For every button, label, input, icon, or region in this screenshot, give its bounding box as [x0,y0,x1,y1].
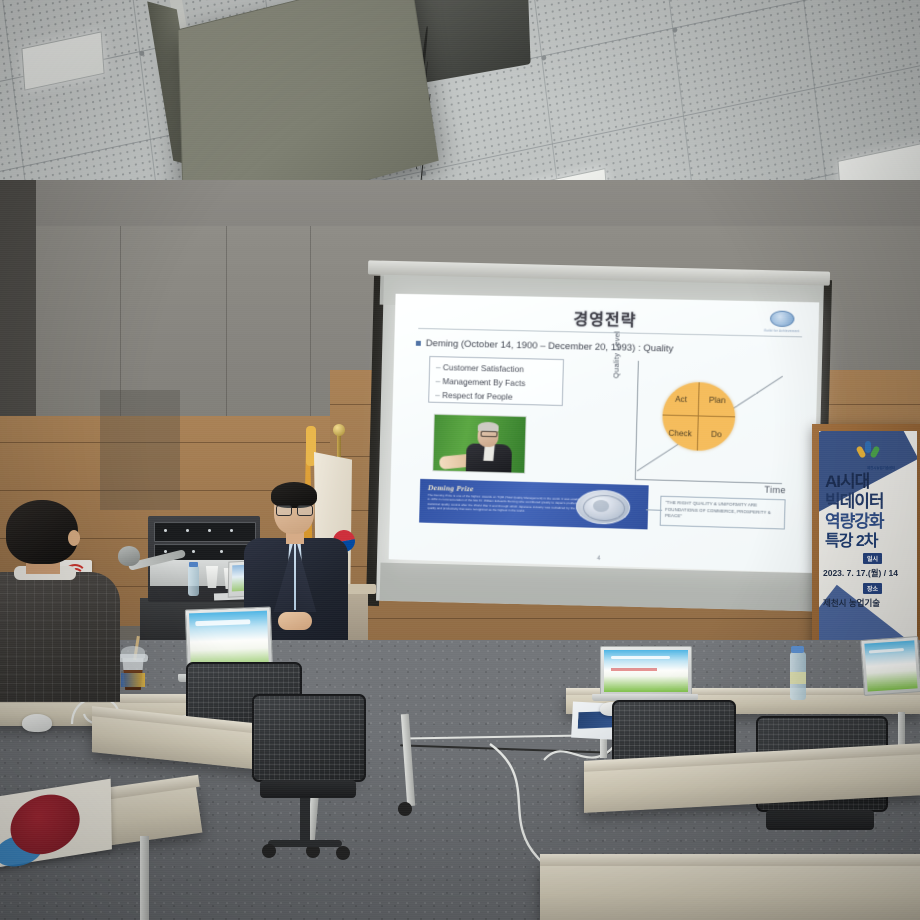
deming-glasses-icon [481,431,498,437]
principle-item: Respect for People [435,388,556,405]
pdca-cycle-diagram: Act Plan Check Do [662,381,736,451]
deming-portrait-photo [432,414,526,474]
deming-quote-text: "THE RIGHT QUALITY & UNIFORMITY ARE FOUN… [665,500,781,523]
laptop-lid [860,636,920,696]
chair-caster [336,846,350,860]
deming-prize-title: Deming Prize [428,483,474,493]
chair-post [300,798,310,840]
water-bottle [188,566,199,596]
attendee-hair [6,500,78,564]
chair-seat [260,780,356,798]
logo-oval-icon [770,310,795,327]
projected-slide: 경영전략 Build for Achievement Deming (Octob… [389,294,820,573]
table-row-bottom-right [540,862,920,920]
laptop[interactable] [860,636,920,696]
chart-xlabel: Time [764,485,786,496]
table-leg [140,836,149,920]
cup-dome-lid [121,646,145,658]
flag-finial [333,424,345,436]
slide-logo-caption: Build for Achievement [762,328,803,333]
wall-recess [100,390,180,510]
laptop-lid [600,646,692,696]
pdca-quadrant-plan: Plan [699,382,736,417]
deming-prize-body: The Deming Prize is one of the highest a… [427,493,586,515]
poster-place-value: 제천시 농업기술 [823,597,880,609]
poster-org-logo: 제천시농업기술센터 [853,441,883,463]
poster-headline-4: 특강 2차 [825,527,878,551]
chair-seat [766,810,874,830]
attendee-plaid-blazer [0,572,120,702]
chart-ylabel: Quality Level [611,331,621,378]
poster-place-label: 장소 [863,583,882,594]
seated-attendee [0,500,112,690]
laptop-screen [864,640,917,691]
bullet-square-icon [416,341,421,346]
poster-date-label: 일시 [863,553,882,564]
deming-quote-box: "THE RIGHT QUALITY & UNIFORMITY ARE FOUN… [660,496,786,530]
slide-logo: Build for Achievement [762,310,803,335]
presenter-glasses-icon [276,505,312,514]
poster-org-name: 제천시농업기술센터 [867,465,895,470]
chair-caster [262,844,276,858]
deming-shirt [483,445,494,461]
laptop-screen [604,650,688,692]
slide-bullet-text: Deming (October 14, 1900 – December 20, … [426,338,674,355]
bottle-label [790,672,806,684]
pdca-quadrant-act: Act [663,381,700,416]
principles-box: Customer Satisfaction Management By Fact… [428,356,564,406]
chair-backrest [252,694,366,782]
bottle-cap [189,562,198,567]
table-edge [540,854,920,866]
deming-medal-icon [576,489,631,525]
slide-bullet-row: Deming (October 14, 1900 – December 20, … [416,338,804,358]
projection-screen: 경영전략 Build for Achievement Deming (Octob… [360,268,830,616]
table-caster [398,802,412,816]
mouse[interactable] [22,714,52,732]
pdca-quadrant-check: Check [662,416,699,451]
poster-date-value: 2023. 7. 17.(월) / 14 [823,567,898,579]
microphone-head[interactable] [118,546,140,566]
pdca-quadrant-do: Do [698,416,735,451]
brochure-red-circle [10,790,80,860]
deming-prize-banner: Deming Prize The Deming Prize is one of … [419,479,649,530]
laptop[interactable] [600,646,692,696]
attendee-ear [68,530,80,546]
quality-time-chart: Quality Level Act Plan Check Do Time [585,360,786,496]
presenter-hands [278,612,312,630]
mesh-office-chair[interactable] [252,694,362,874]
bottle-cap [791,646,804,653]
chair-base [268,840,342,847]
lecture-room-photo: 무선인터넷 가능 경영전략 Build for Achievement Demi… [0,0,920,920]
deming-hair [478,422,499,431]
